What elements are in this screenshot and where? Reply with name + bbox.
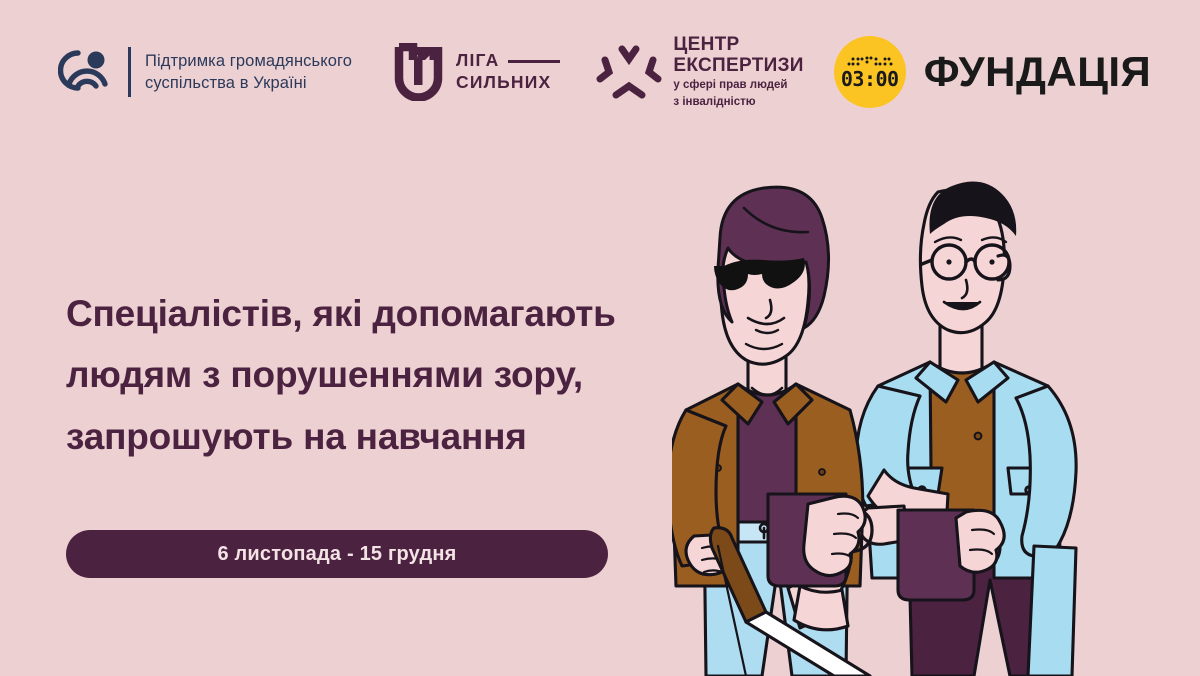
- logo-divider: [128, 47, 131, 97]
- braille-clock-icon: 03:00: [834, 36, 906, 108]
- centre-logo-text: ЦЕНТР ЕКСПЕРТИЗИ у сфері прав людей з ін…: [673, 35, 803, 109]
- fund-time-label: 03:00: [841, 69, 899, 89]
- liga-shield-arrow-icon: [394, 43, 443, 101]
- promo-banner: Підтримка громадянського суспільства в У…: [0, 0, 1200, 676]
- illustration-two-people-with-mugs: [672, 116, 1172, 676]
- usaid-logo-text: Підтримка громадянського суспільства в У…: [145, 50, 352, 95]
- fund-wordmark: ФУНДАЦІЯ: [924, 51, 1152, 93]
- date-badge-label: 6 листопада - 15 грудня: [217, 543, 456, 566]
- usaid-line-1: Підтримка громадянського: [145, 52, 352, 70]
- logo-liga-sylnykh: ЛІГА СИЛЬНИХ: [394, 43, 560, 101]
- centre-line-4: з інвалідністю: [673, 95, 803, 109]
- star-outline-icon: [596, 39, 662, 105]
- headline-line-2: людям з порушеннями зору,: [66, 354, 583, 395]
- usaid-line-2: суспільства в Україні: [145, 74, 307, 92]
- logo-centre-of-expertise: ЦЕНТР ЕКСПЕРТИЗИ у сфері прав людей з ін…: [596, 35, 803, 109]
- logo-usaid-civil-society: Підтримка громадянського суспільства в У…: [58, 43, 352, 101]
- logo-bar: Підтримка громадянського суспільства в У…: [58, 30, 1150, 114]
- liga-row-1: ЛІГА: [456, 50, 560, 72]
- date-badge: 6 листопада - 15 грудня: [66, 530, 608, 578]
- logo-fundatsiya: 03:00 ФУНДАЦІЯ: [834, 36, 1152, 108]
- liga-dash: [508, 60, 560, 63]
- man-figure: [856, 182, 1076, 676]
- liga-logo-text: ЛІГА СИЛЬНИХ: [456, 50, 560, 94]
- liga-line-1: ЛІГА: [456, 50, 499, 72]
- liga-line-2: СИЛЬНИХ: [456, 72, 560, 94]
- headline: Спеціалістів, які допомагають людям з по…: [66, 283, 666, 467]
- centre-line-2: ЕКСПЕРТИЗИ: [673, 56, 803, 77]
- headline-line-3: запрошують на навчання: [66, 416, 527, 457]
- centre-line-1: ЦЕНТР: [673, 35, 803, 56]
- headline-line-1: Спеціалістів, які допомагають: [66, 293, 616, 334]
- civil-society-mark-icon: [58, 43, 116, 101]
- centre-line-3: у сфері прав людей: [673, 78, 803, 92]
